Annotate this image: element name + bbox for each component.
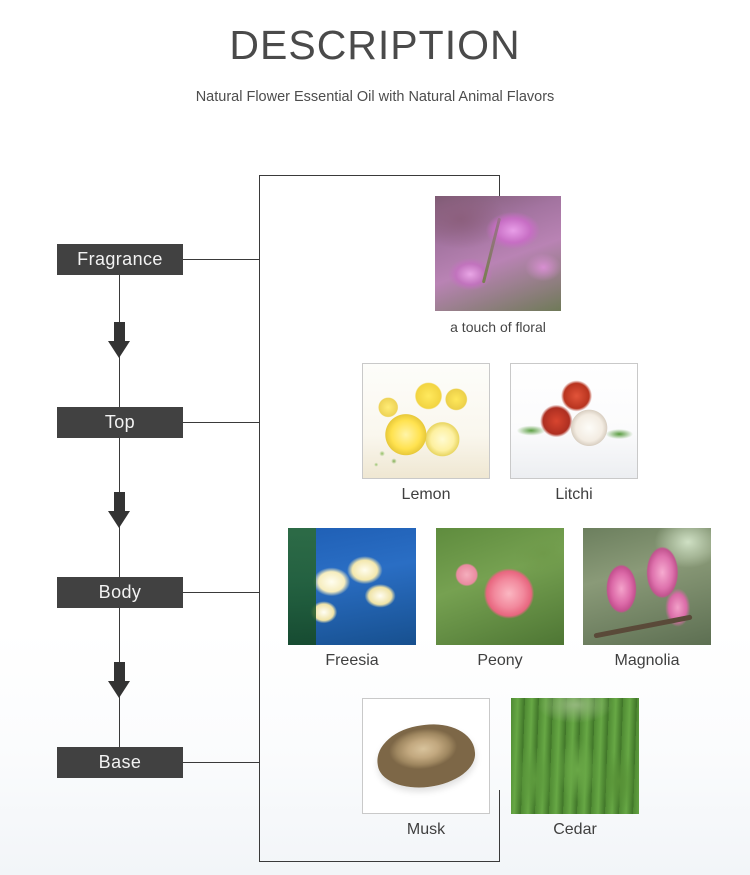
note-item-magnolia[interactable]: Magnolia — [583, 528, 711, 645]
note-caption: Freesia — [325, 652, 378, 670]
note-item-floral[interactable]: a touch of floral — [435, 196, 561, 311]
lemon-photo — [362, 363, 490, 479]
page-header: DESCRIPTION Natural Flower Essential Oil… — [0, 0, 750, 105]
frame-edge-bottom-right — [499, 790, 500, 862]
arrow-head — [108, 681, 130, 698]
note-caption: Musk — [407, 821, 445, 839]
note-caption: Litchi — [555, 486, 592, 504]
stage-box-body: Body — [57, 577, 183, 608]
stage-box-base: Base — [57, 747, 183, 778]
note-item-cedar[interactable]: Cedar — [511, 698, 639, 814]
floral-flowers-photo — [435, 196, 561, 311]
cedar-photo — [511, 698, 639, 814]
connector-line-body — [183, 592, 259, 593]
arrow-down-icon — [108, 492, 131, 528]
arrow-shaft — [114, 492, 125, 513]
arrow-head — [108, 511, 130, 528]
arrow-down-icon — [108, 322, 131, 358]
arrow-shaft — [114, 662, 125, 683]
litchi-photo — [510, 363, 638, 479]
note-item-litchi[interactable]: Litchi — [510, 363, 638, 479]
stage-label: Top — [105, 412, 135, 433]
note-item-musk[interactable]: Musk — [362, 698, 490, 814]
note-item-lemon[interactable]: Lemon — [362, 363, 490, 479]
peony-photo — [436, 528, 564, 645]
page-subtitle: Natural Flower Essential Oil with Natura… — [0, 69, 750, 105]
stage-label: Body — [99, 582, 142, 603]
connector-line-top — [183, 422, 259, 423]
magnolia-photo — [583, 528, 711, 645]
arrow-head — [108, 341, 130, 358]
note-caption: Peony — [477, 652, 522, 670]
note-caption: Cedar — [553, 821, 597, 839]
arrow-shaft — [114, 322, 125, 343]
stage-box-fragrance: Fragrance — [57, 244, 183, 275]
page-title: DESCRIPTION — [0, 0, 750, 69]
note-caption: Magnolia — [615, 652, 680, 670]
stage-label: Base — [99, 752, 142, 773]
stage-box-top: Top — [57, 407, 183, 438]
musk-photo — [362, 698, 490, 814]
note-caption: Lemon — [402, 486, 451, 504]
note-caption: a touch of floral — [450, 319, 546, 335]
freesia-photo — [288, 528, 416, 645]
note-item-freesia[interactable]: Freesia — [288, 528, 416, 645]
arrow-down-icon — [108, 662, 131, 698]
stage-label: Fragrance — [77, 249, 163, 270]
connector-line-base — [183, 762, 259, 763]
note-item-peony[interactable]: Peony — [436, 528, 564, 645]
connector-line-fragrance — [183, 259, 259, 260]
